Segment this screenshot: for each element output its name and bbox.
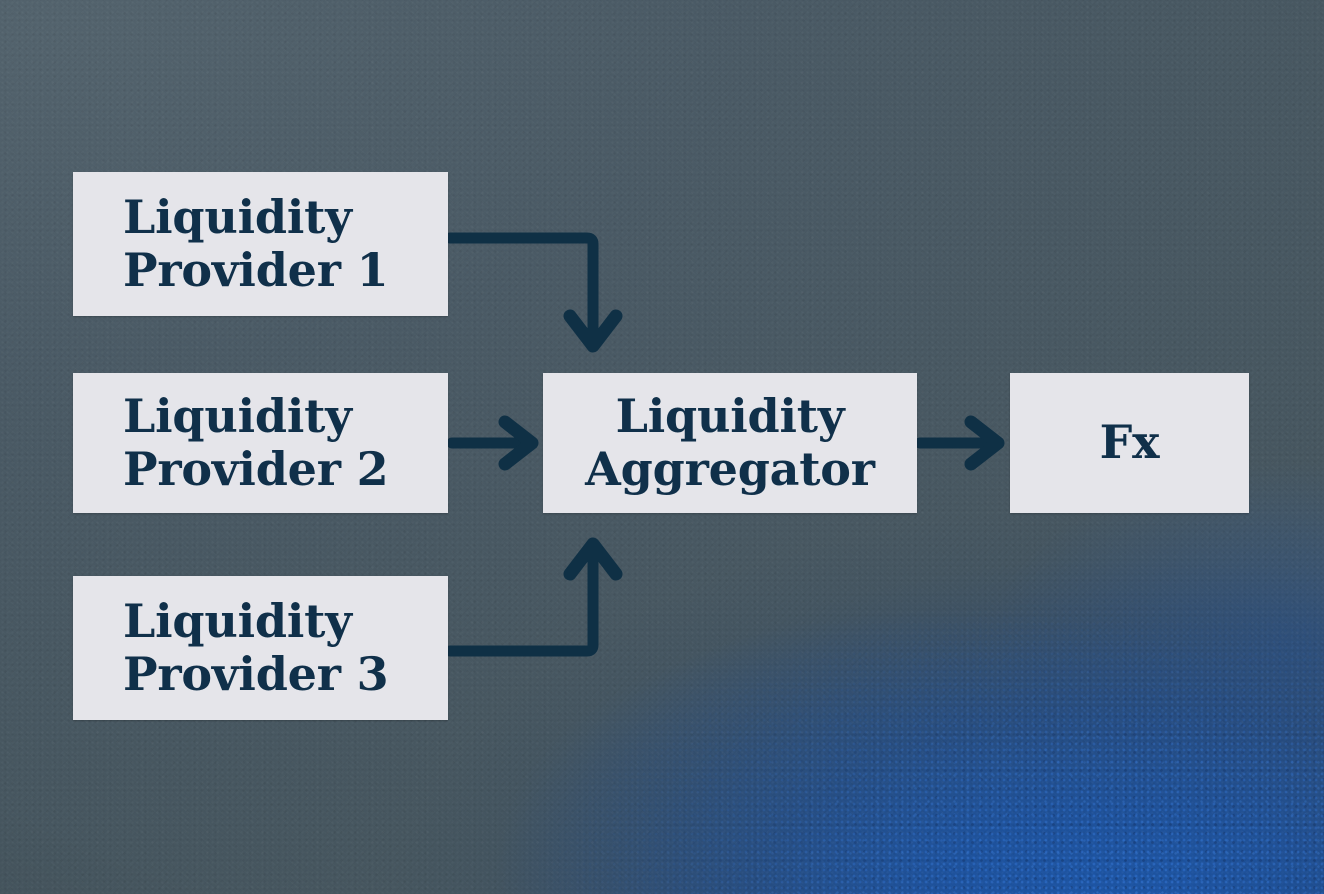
node-label-line1: Liquidity	[123, 390, 352, 443]
node-liquidity-provider-2[interactable]: Liquidity Provider 2	[73, 373, 448, 513]
node-fx[interactable]: Fx	[1010, 373, 1249, 513]
node-label-line2: Provider 2	[123, 443, 388, 496]
node-liquidity-provider-1[interactable]: Liquidity Provider 1	[73, 172, 448, 316]
node-label-line1: Liquidity	[123, 595, 352, 648]
node-liquidity-provider-3[interactable]: Liquidity Provider 3	[73, 576, 448, 720]
node-label-line1: Liquidity	[616, 390, 845, 443]
diagram-canvas: Liquidity Provider 1 Liquidity Provider …	[0, 0, 1324, 894]
node-label-line2: Aggregator	[585, 443, 875, 496]
node-label-line2: Provider 3	[123, 648, 388, 701]
node-label-line1: Liquidity	[123, 191, 352, 244]
node-label-line2: Provider 1	[123, 244, 388, 297]
node-label-line1: Fx	[1100, 416, 1160, 469]
node-liquidity-aggregator[interactable]: Liquidity Aggregator	[543, 373, 917, 513]
